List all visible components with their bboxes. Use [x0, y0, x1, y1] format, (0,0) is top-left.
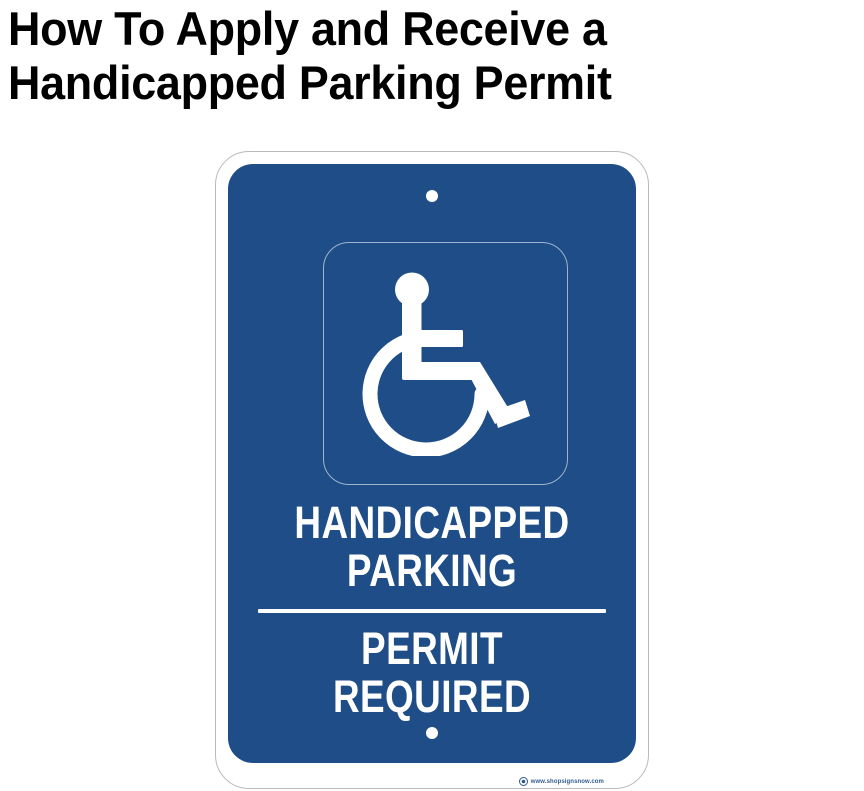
- handicapped-parking-sign-image: HANDICAPPED PARKING PERMIT REQUIRED www.…: [215, 151, 649, 789]
- page-title-line-1: How To Apply and Receive a: [8, 2, 820, 56]
- legend-handicapped: HANDICAPPED: [265, 499, 600, 547]
- wheelchair-icon: [362, 272, 530, 456]
- symbol-outline-box: [323, 242, 568, 485]
- vendor-logo-icon: [519, 777, 528, 786]
- page-title-line-2: Handicapped Parking Permit: [8, 56, 820, 110]
- legend-permit: PERMIT: [265, 625, 600, 673]
- sign-blue-face: HANDICAPPED PARKING PERMIT REQUIRED: [228, 164, 636, 763]
- vendor-watermark-text: www.shopsignsnow.com: [531, 779, 604, 785]
- mounting-hole-bottom: [426, 727, 438, 739]
- sign-legend: HANDICAPPED PARKING PERMIT REQUIRED: [228, 499, 636, 721]
- vendor-watermark: www.shopsignsnow.com: [519, 777, 604, 786]
- legend-parking: PARKING: [265, 547, 600, 595]
- legend-divider-rule: [258, 609, 606, 613]
- legend-required: REQUIRED: [265, 673, 600, 721]
- mounting-hole-top: [426, 190, 438, 202]
- page-title: How To Apply and Receive a Handicapped P…: [8, 2, 858, 110]
